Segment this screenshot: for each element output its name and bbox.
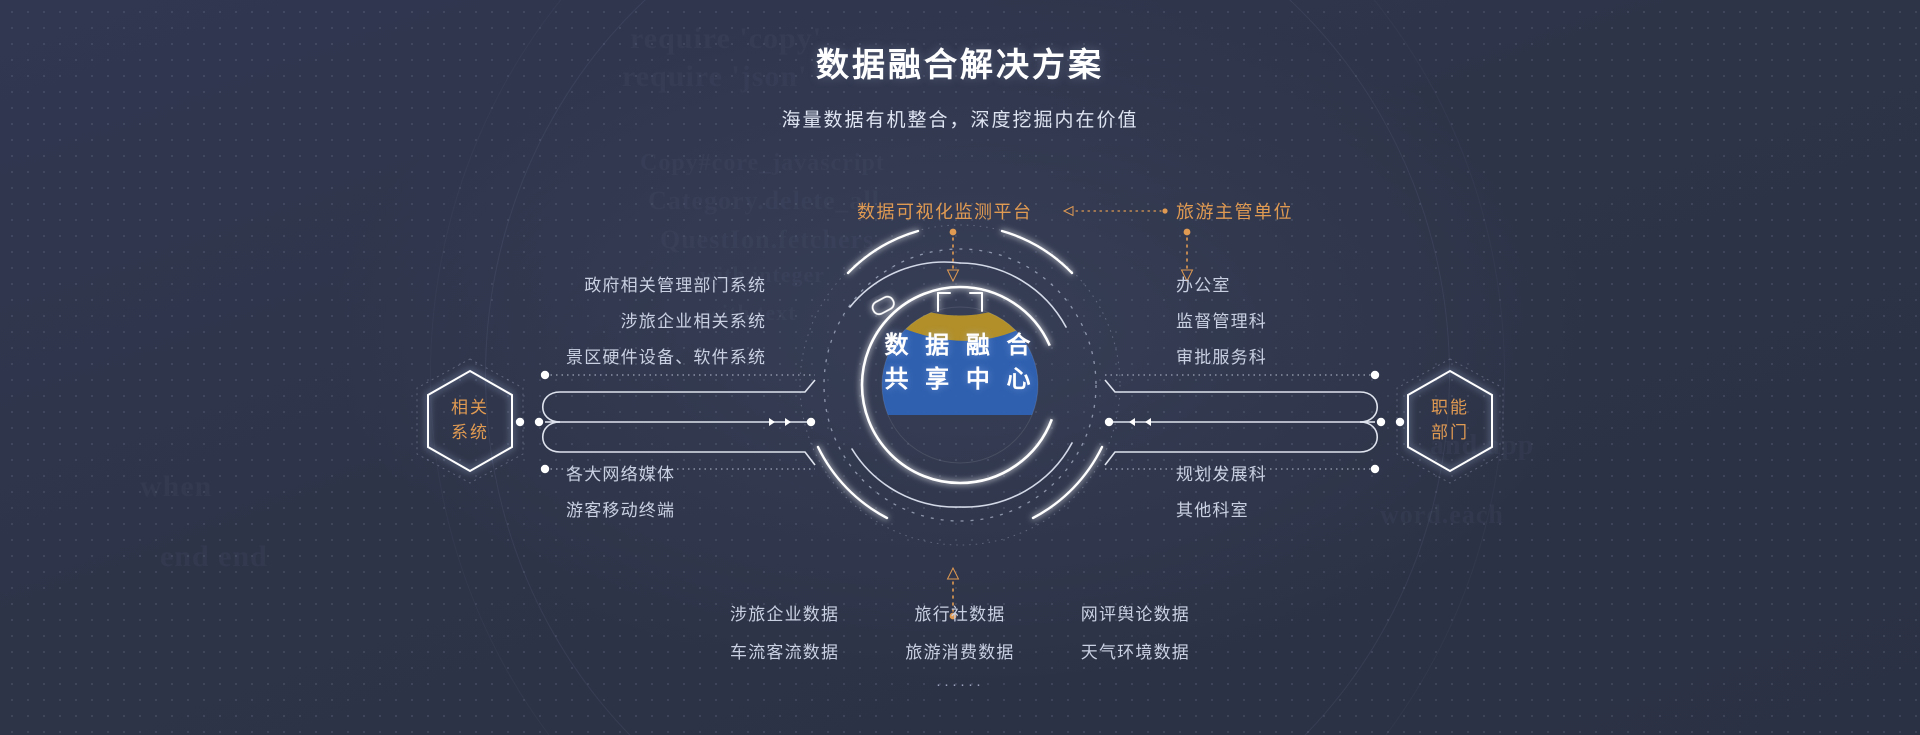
bottom-tag[interactable]: 旅行社数据 [915, 600, 1006, 625]
list-right-bottom: 规划发展科 其他科室 [1176, 457, 1267, 529]
list-right-top: 办公室 监督管理科 审批服务科 [1176, 268, 1267, 376]
center-rings-graphic [790, 215, 1130, 555]
code-watermark: Category.delete_all [648, 186, 880, 216]
list-item[interactable]: 规划发展科 [1176, 457, 1267, 493]
list-item[interactable]: 游客移动终端 [566, 493, 675, 529]
list-item[interactable]: 办公室 [1176, 268, 1267, 304]
list-left-top: 政府相关管理部门系统 涉旅企业相关系统 景区硬件设备、软件系统 [566, 268, 766, 376]
bottom-data-tags: 涉旅企业数据 旅行社数据 网评舆论数据 车流客流数据 旅游消费数据 天气环境数据… [730, 600, 1190, 693]
bottom-tag[interactable]: 涉旅企业数据 [730, 600, 839, 625]
list-item[interactable]: 各大网络媒体 [566, 457, 675, 493]
code-watermark: word.each [1380, 500, 1504, 530]
bottom-tag-row: 车流客流数据 旅游消费数据 天气环境数据 [730, 638, 1190, 663]
bottom-tag-row: 涉旅企业数据 旅行社数据 网评舆论数据 [730, 600, 1190, 625]
list-item[interactable]: 监督管理科 [1176, 304, 1267, 340]
hexagon-outline-icon [1390, 355, 1510, 487]
hexagon-outline-icon [410, 355, 530, 487]
hexagon-related-systems[interactable]: 相关 系统 [410, 355, 530, 487]
page-title: 数据融合解决方案 [0, 38, 1920, 86]
hexagon-functional-departments[interactable]: 职能 部门 [1390, 355, 1510, 487]
center-hub: 数 据 融 合 共 享 中 心 [790, 215, 1130, 555]
bottom-tag[interactable]: 网评舆论数据 [1081, 600, 1190, 625]
bottom-ellipsis: ······ [730, 676, 1190, 693]
list-item[interactable]: 景区硬件设备、软件系统 [566, 340, 766, 376]
code-watermark: end end [160, 540, 268, 574]
list-item[interactable]: 政府相关管理部门系统 [566, 268, 766, 304]
code-watermark: Copy#core_javascript [640, 150, 885, 177]
list-left-bottom: 各大网络媒体 游客移动终端 [566, 457, 675, 529]
bottom-tag[interactable]: 天气环境数据 [1081, 638, 1190, 663]
header: 数据融合解决方案 海量数据有机整合，深度挖掘内在价值 [0, 0, 1920, 132]
infographic-canvas: require 'copy' require 'json' Copy#core_… [0, 0, 1920, 735]
bottom-tag[interactable]: 旅游消费数据 [905, 638, 1014, 663]
list-item[interactable]: 涉旅企业相关系统 [566, 304, 766, 340]
code-watermark: when [140, 470, 212, 504]
page-subtitle: 海量数据有机整合，深度挖掘内在价值 [0, 105, 1920, 132]
list-item[interactable]: 审批服务科 [1176, 340, 1267, 376]
label-tourism-authority[interactable]: 旅游主管单位 [1176, 198, 1293, 224]
list-item[interactable]: 其他科室 [1176, 493, 1267, 529]
bottom-tag[interactable]: 车流客流数据 [730, 638, 839, 663]
